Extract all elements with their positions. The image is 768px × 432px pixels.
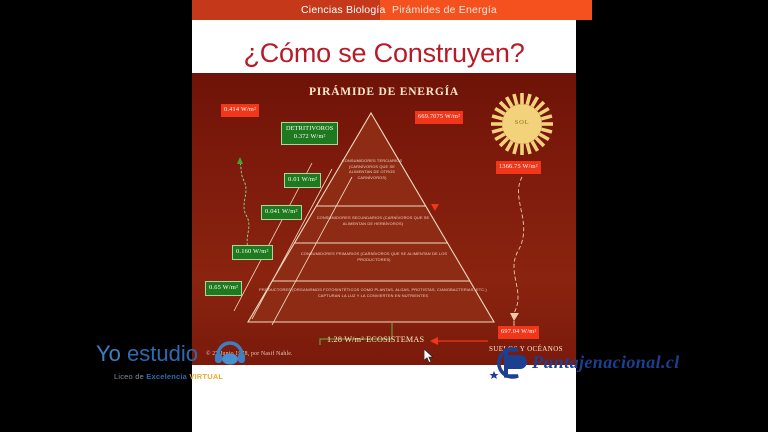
page-title: ¿Cómo se Construyen?	[192, 38, 576, 69]
sun-icon: SOL	[489, 91, 555, 157]
value-box-669: 669.7075 W/m²	[415, 111, 463, 124]
value-box-0-160: 0.160 W/m²	[232, 245, 273, 260]
tagline-part-2: Excelencia	[146, 372, 187, 381]
logo-word-estudio: estudio	[127, 341, 198, 366]
energy-pyramid-figure: PIRÁMIDE DE ENERGÍA CONSUMIDORES TERCIAR…	[192, 73, 576, 365]
pyramid-level-terciarios: CONSUMIDORES TERCIARIOS (CARNÍVOROS QUE …	[338, 158, 406, 180]
value-box-0-65: 0.65 W/m²	[205, 281, 242, 296]
headphones-icon	[214, 339, 246, 365]
tagline-part-1: Liceo de	[114, 372, 146, 381]
logo-word-yo: Yo	[96, 341, 121, 366]
pyramid-level-productores: PRODUCTORES (ORGANISMOS FOTOSINTÉTICOS C…	[258, 287, 488, 298]
value-box-0-01: 0.01 W/m²	[284, 173, 321, 188]
value-box-0-414: 0.414 W/m²	[221, 104, 259, 117]
pyramid-level-secundarios: CONSUMIDORES SECUNDARIOS (CARNÍVOROS QUE…	[310, 215, 436, 226]
breadcrumb-topic[interactable]: Pirámides de Energía	[392, 3, 497, 17]
mouse-cursor	[424, 349, 435, 364]
pn-monogram-icon	[488, 345, 532, 381]
sun-label: SOL	[489, 119, 555, 126]
yo-estudio-logo[interactable]: Yo estudio Liceo de Excelencia VIRTUAL	[96, 341, 256, 389]
value-box-0-041: 0.041 W/m²	[261, 205, 302, 220]
value-box-solar-constant: 1366.75 W/m²	[496, 161, 541, 174]
value-box-detritivoros: DETRITIVOROS 0.372 W/m²	[281, 122, 338, 145]
top-bar: Ciencias Biología Pirámides de Energía	[0, 0, 768, 20]
detritivoros-label: DETRITIVOROS	[286, 125, 333, 133]
puntajenacional-logo[interactable]: Puntajenacional.cl	[488, 345, 678, 385]
value-box-697: 697.04 W/m²	[498, 326, 539, 339]
ecosystems-label: 1.28 W/m² ECOSISTEMAS	[327, 335, 424, 344]
pyramid-level-primarios: CONSUMIDORES PRIMARIOS (CARNÍVOROS QUE S…	[286, 251, 462, 262]
screenshot-root: Ciencias Biología Pirámides de Energía ¿…	[0, 0, 768, 432]
slide-canvas: ¿Cómo se Construyen? PIRÁMIDE DE ENERGÍA…	[192, 20, 576, 432]
tagline-part-3: VIRTUAL	[187, 372, 223, 381]
detritivoros-value: 0.372 W/m²	[286, 133, 333, 141]
puntajenacional-wordmark: Puntajenacional.cl	[532, 352, 680, 373]
breadcrumb-subject[interactable]: Ciencias Biología	[301, 3, 386, 17]
yo-estudio-tagline: Liceo de Excelencia VIRTUAL	[114, 372, 223, 381]
